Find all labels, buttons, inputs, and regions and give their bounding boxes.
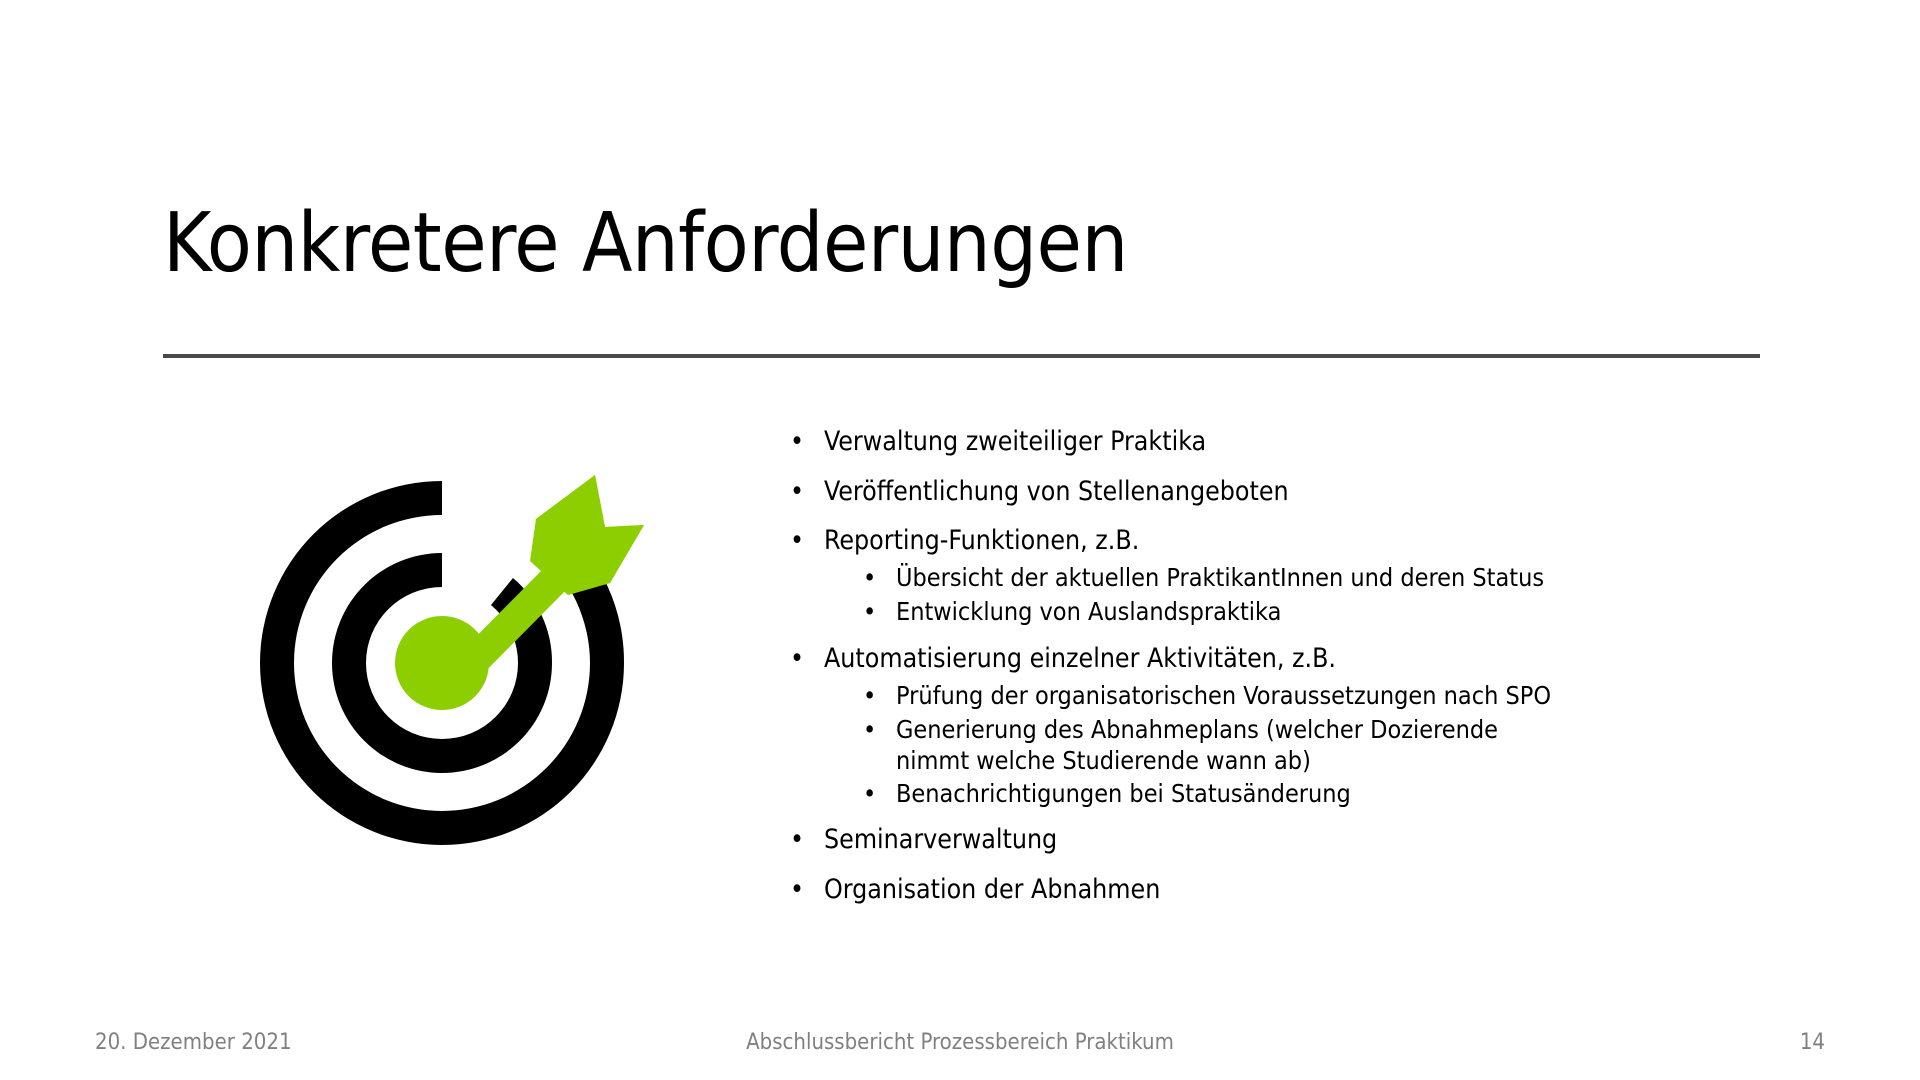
bullet-marker-icon: • xyxy=(863,778,896,810)
target-with-arrow-icon xyxy=(238,465,648,860)
bullet-list: • Verwaltung zweiteiliger Praktika • Ver… xyxy=(790,425,1880,922)
slide: Konkretere Anforderungen • Verwaltung zw… xyxy=(0,0,1920,1080)
list-item-label: Übersicht der aktuellen PraktikantInnen … xyxy=(896,562,1544,594)
footer-page-number: 14 xyxy=(1800,1029,1825,1057)
sub-list: • Prüfung der organisatorischen Vorausse… xyxy=(790,680,1880,810)
list-item-label: Automatisierung einzelner Aktivitäten, z… xyxy=(824,642,1336,676)
list-item: • Verwaltung zweiteiliger Praktika xyxy=(790,425,1880,459)
bullet-marker-icon: • xyxy=(790,823,824,857)
bullet-marker-icon: • xyxy=(790,425,824,459)
bullet-marker-icon: • xyxy=(863,680,896,712)
list-item: • Prüfung der organisatorischen Vorausse… xyxy=(863,680,1880,712)
bullet-marker-icon: • xyxy=(790,873,824,907)
list-item-label: Entwicklung von Auslandspraktika xyxy=(896,596,1281,628)
footer-title: Abschlussbericht Prozessbereich Praktiku… xyxy=(0,1029,1920,1057)
list-item: • Benachrichtigungen bei Statusänderung xyxy=(863,778,1880,810)
list-item-label: Generierung des Abnahmeplans (welcher Do… xyxy=(896,714,1556,776)
bullet-marker-icon: • xyxy=(863,596,896,628)
list-item-label: Reporting-Funktionen, z.B. xyxy=(824,524,1139,558)
list-item: • Reporting-Funktionen, z.B. xyxy=(790,524,1880,558)
list-item-label: Verwaltung zweiteiliger Praktika xyxy=(824,425,1206,459)
list-item: • Entwicklung von Auslandspraktika xyxy=(863,596,1880,628)
list-item-label: Veröffentlichung von Stellenangeboten xyxy=(824,475,1289,509)
list-item-label: Prüfung der organisatorischen Voraussetz… xyxy=(896,680,1551,712)
list-item-label: Organisation der Abnahmen xyxy=(824,873,1160,907)
sub-list: • Übersicht der aktuellen PraktikantInne… xyxy=(790,562,1880,628)
title-divider xyxy=(163,354,1760,358)
bullet-marker-icon: • xyxy=(863,562,896,594)
bullet-marker-icon: • xyxy=(790,524,824,558)
bullet-marker-icon: • xyxy=(790,475,824,509)
list-item: • Übersicht der aktuellen PraktikantInne… xyxy=(863,562,1880,594)
list-item: • Automatisierung einzelner Aktivitäten,… xyxy=(790,642,1880,676)
list-item: • Generierung des Abnahmeplans (welcher … xyxy=(863,714,1880,776)
bullet-marker-icon: • xyxy=(790,642,824,676)
list-item-label: Seminarverwaltung xyxy=(824,823,1057,857)
list-item: • Veröffentlichung von Stellenangeboten xyxy=(790,475,1880,509)
list-item: • Organisation der Abnahmen xyxy=(790,873,1880,907)
list-item-label: Benachrichtigungen bei Statusänderung xyxy=(896,778,1351,810)
bullet-marker-icon: • xyxy=(863,714,896,746)
page-title: Konkretere Anforderungen xyxy=(163,198,1763,290)
list-item: • Seminarverwaltung xyxy=(790,823,1880,857)
